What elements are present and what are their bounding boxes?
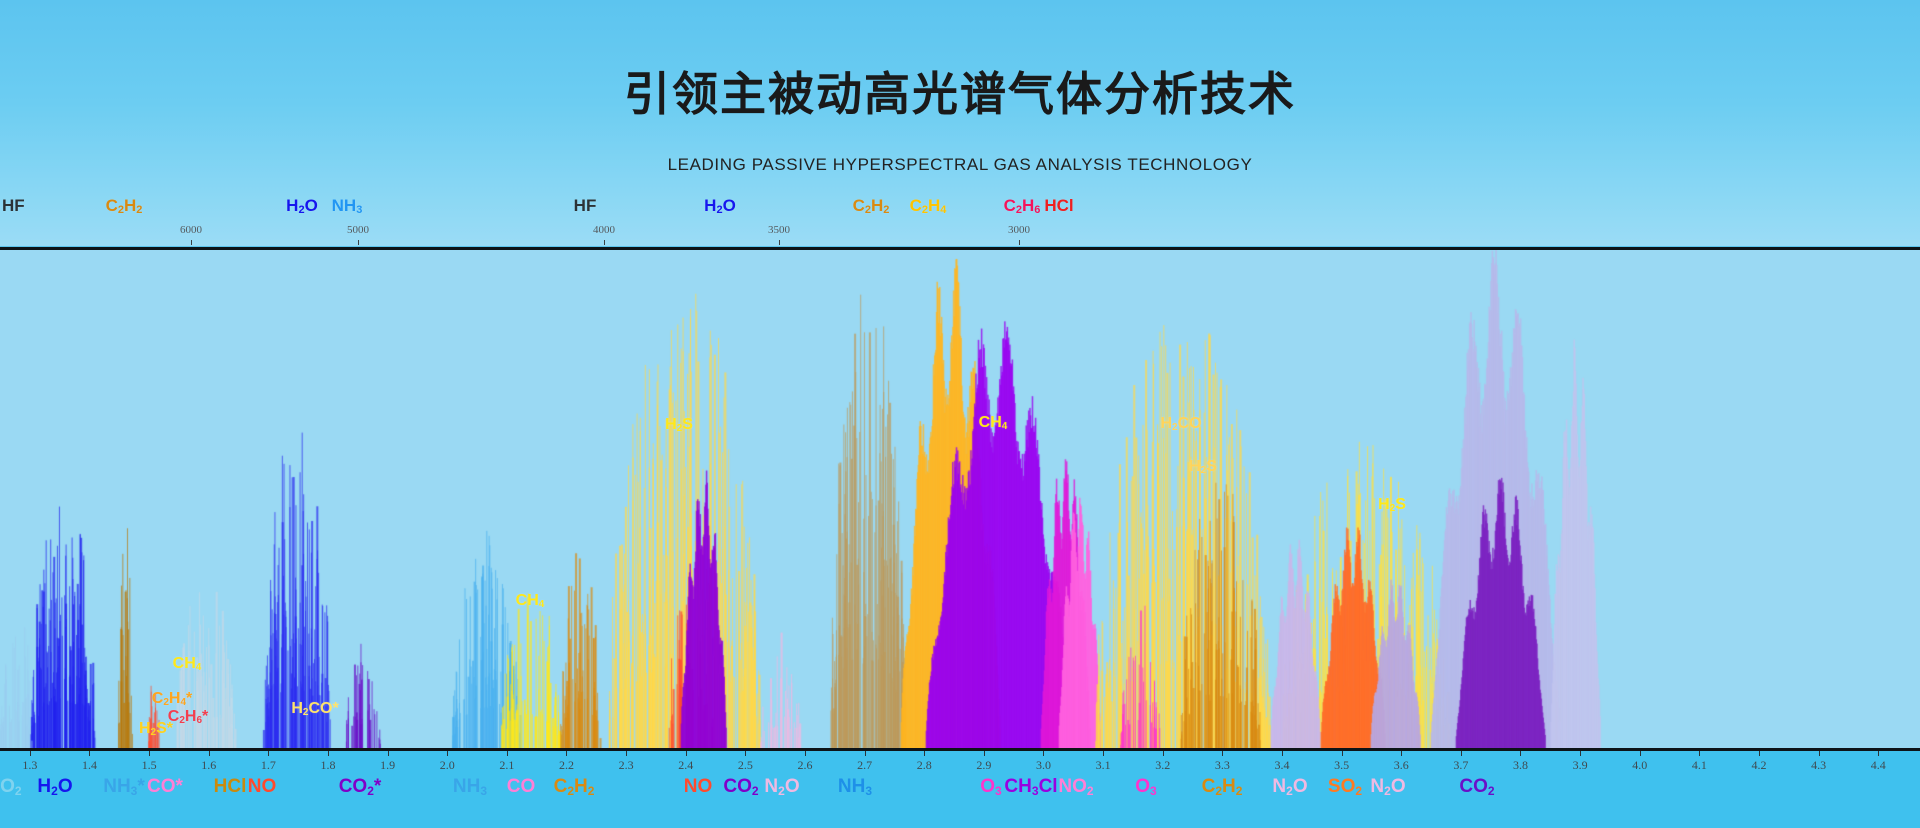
inplot-gas-label: C2H4* <box>152 690 192 708</box>
wavelength-tick-mark <box>626 751 627 756</box>
wavelength-tick-mark <box>388 751 389 756</box>
wavelength-tick-mark <box>865 751 866 756</box>
wavenumber-axis: 60005000400035003000HFC2H2H2ONH3HFH2OC2H… <box>0 196 1920 248</box>
bottom-gas-label: CO <box>507 776 536 798</box>
wavelength-tick-mark <box>1282 751 1283 756</box>
wavelength-tick-label: 4.4 <box>1871 758 1886 773</box>
wavenumber-tick-mark <box>779 240 780 245</box>
top-gas-label: C2H4 <box>910 196 947 216</box>
wavelength-tick-label: 3.5 <box>1334 758 1349 773</box>
bottom-gas-label: CO* <box>147 776 183 798</box>
bottom-gas-label: NO <box>684 776 713 798</box>
top-gas-label: HF <box>2 196 25 216</box>
wavelength-tick-mark <box>1640 751 1641 756</box>
wavelength-tick-label: 3.1 <box>1096 758 1111 773</box>
wavelength-tick-mark <box>1043 751 1044 756</box>
wavelength-tick-label: 2.8 <box>917 758 932 773</box>
wavelength-tick-mark <box>1163 751 1164 756</box>
inplot-gas-label: H2S <box>1189 458 1217 476</box>
wavelength-tick-mark <box>268 751 269 756</box>
inplot-gas-label: H2S <box>665 416 693 434</box>
top-gas-label: C2H2 <box>853 196 890 216</box>
wavelength-tick-label: 2.3 <box>619 758 634 773</box>
wavelength-tick-mark <box>1520 751 1521 756</box>
wavelength-tick-label: 3.9 <box>1573 758 1588 773</box>
wavelength-tick-mark <box>149 751 150 756</box>
wavenumber-tick-mark <box>1019 240 1020 245</box>
wavelength-tick-mark <box>1222 751 1223 756</box>
wavelength-tick-mark <box>1401 751 1402 756</box>
wavelength-tick-label: 2.5 <box>738 758 753 773</box>
wavelength-tick-mark <box>328 751 329 756</box>
top-gas-label: HCl <box>1044 196 1073 216</box>
top-gas-label: HF <box>574 196 597 216</box>
wavelength-tick-label: 3.2 <box>1155 758 1170 773</box>
bottom-gas-label: CO2 <box>1459 776 1494 798</box>
wavelength-tick-mark <box>507 751 508 756</box>
wavelength-tick-label: 3.3 <box>1215 758 1230 773</box>
wavelength-tick-label: 3.6 <box>1394 758 1409 773</box>
page-subtitle: LEADING PASSIVE HYPERSPECTRAL GAS ANALYS… <box>0 155 1920 175</box>
inplot-gas-label: H2CO* <box>291 700 338 718</box>
bottom-gas-label: N2O <box>1370 776 1405 798</box>
inplot-gas-label: CH4 <box>516 592 545 610</box>
wavelength-tick-label: 2.2 <box>559 758 574 773</box>
wavenumber-tick-mark <box>604 240 605 245</box>
wavelength-tick-mark <box>1819 751 1820 756</box>
wavelength-tick-label: 4.3 <box>1811 758 1826 773</box>
wavelength-tick-label: 2.0 <box>440 758 455 773</box>
bottom-gas-label: C2H2 <box>554 776 595 798</box>
spectrum-plot: CH4C2H4*C2H6*H2S*H2CO*CH4H2SCH4H2COH2SH2… <box>0 250 1920 748</box>
wavelength-tick-label: 1.8 <box>320 758 335 773</box>
wavenumber-tick-mark <box>358 240 359 245</box>
wavenumber-tick-label: 4000 <box>593 224 615 236</box>
wavelength-tick-label: 1.7 <box>261 758 276 773</box>
top-gas-label: C2H2 <box>106 196 143 216</box>
wavelength-tick-mark <box>1699 751 1700 756</box>
bottom-gas-label: C2H2 <box>1202 776 1243 798</box>
top-gas-label: H2O <box>704 196 736 216</box>
inplot-gas-label: H2S* <box>139 720 173 738</box>
wavelength-tick-label: 1.3 <box>22 758 37 773</box>
bottom-gas-label: H2O <box>37 776 72 798</box>
inplot-gas-label: CH4 <box>979 414 1008 432</box>
bottom-gas-label: N2O <box>764 776 799 798</box>
wavelength-tick-label: 1.9 <box>380 758 395 773</box>
wavelength-tick-label: 4.1 <box>1692 758 1707 773</box>
wavelength-tick-label: 1.4 <box>82 758 97 773</box>
wavelength-tick-label: 2.6 <box>797 758 812 773</box>
wavelength-axis: 1.31.41.51.61.71.81.92.02.12.22.32.42.52… <box>0 748 1920 828</box>
wavelength-tick-mark <box>1580 751 1581 756</box>
bottom-gas-label: NH3 <box>838 776 872 798</box>
wavelength-tick-mark <box>1342 751 1343 756</box>
wavelength-tick-label: 2.4 <box>678 758 693 773</box>
bottom-gas-label: CO2 <box>0 776 22 798</box>
wavelength-tick-mark <box>924 751 925 756</box>
wavelength-tick-mark <box>209 751 210 756</box>
inplot-gas-label: C2H6* <box>168 708 208 726</box>
wavelength-tick-mark <box>447 751 448 756</box>
wavenumber-tick-label: 3500 <box>768 224 790 236</box>
wavelength-tick-mark <box>1878 751 1879 756</box>
wavenumber-tick-mark <box>191 240 192 245</box>
bottom-gas-label: HCl <box>214 776 247 798</box>
wavelength-tick-label: 1.5 <box>142 758 157 773</box>
wavelength-tick-label: 4.0 <box>1632 758 1647 773</box>
bottom-gas-label: O3 <box>980 776 1001 798</box>
bottom-gas-label: NH3 <box>453 776 487 798</box>
wavelength-tick-mark <box>89 751 90 756</box>
bottom-gas-label: NO2 <box>1058 776 1093 798</box>
wavelength-tick-label: 2.7 <box>857 758 872 773</box>
wavelength-tick-mark <box>30 751 31 756</box>
bottom-gas-label: CO2 <box>723 776 758 798</box>
wavelength-tick-mark <box>984 751 985 756</box>
wavelength-tick-mark <box>1759 751 1760 756</box>
inplot-gas-label: CH4 <box>173 655 202 673</box>
wavelength-tick-mark <box>1461 751 1462 756</box>
wavelength-tick-label: 3.4 <box>1274 758 1289 773</box>
top-gas-label: C2H6 <box>1004 196 1041 216</box>
wavelength-tick-label: 3.8 <box>1513 758 1528 773</box>
top-gas-label: NH3 <box>332 196 363 216</box>
bottom-axis-rule <box>0 748 1920 751</box>
wavelength-tick-mark <box>686 751 687 756</box>
spectrum-canvas <box>0 250 1920 748</box>
bottom-gas-label: NH3* <box>103 776 145 798</box>
wavelength-tick-label: 4.2 <box>1752 758 1767 773</box>
bottom-gas-label: N2O <box>1272 776 1307 798</box>
wavelength-tick-label: 2.9 <box>976 758 991 773</box>
bottom-gas-label: CH3Cl <box>1004 776 1057 798</box>
wavelength-tick-mark <box>566 751 567 756</box>
wavelength-tick-label: 2.1 <box>499 758 514 773</box>
page-title: 引领主被动高光谱气体分析技术 <box>0 58 1920 124</box>
wavenumber-tick-label: 5000 <box>347 224 369 236</box>
wavelength-tick-label: 3.7 <box>1453 758 1468 773</box>
bottom-gas-label: SO2 <box>1328 776 1362 798</box>
wavenumber-tick-label: 6000 <box>180 224 202 236</box>
bottom-gas-label: O3 <box>1135 776 1156 798</box>
wavelength-tick-label: 3.0 <box>1036 758 1051 773</box>
wavenumber-tick-label: 3000 <box>1008 224 1030 236</box>
top-gas-label: H2O <box>286 196 318 216</box>
bottom-gas-label: CO2* <box>339 776 382 798</box>
bottom-gas-label: NO <box>248 776 277 798</box>
wavelength-tick-mark <box>805 751 806 756</box>
inplot-gas-label: H2CO <box>1160 415 1201 433</box>
wavelength-tick-mark <box>745 751 746 756</box>
page-root: 引领主被动高光谱气体分析技术 LEADING PASSIVE HYPERSPEC… <box>0 0 1920 828</box>
inplot-gas-label: H2S <box>1378 496 1406 514</box>
wavelength-tick-mark <box>1103 751 1104 756</box>
wavelength-tick-label: 1.6 <box>201 758 216 773</box>
